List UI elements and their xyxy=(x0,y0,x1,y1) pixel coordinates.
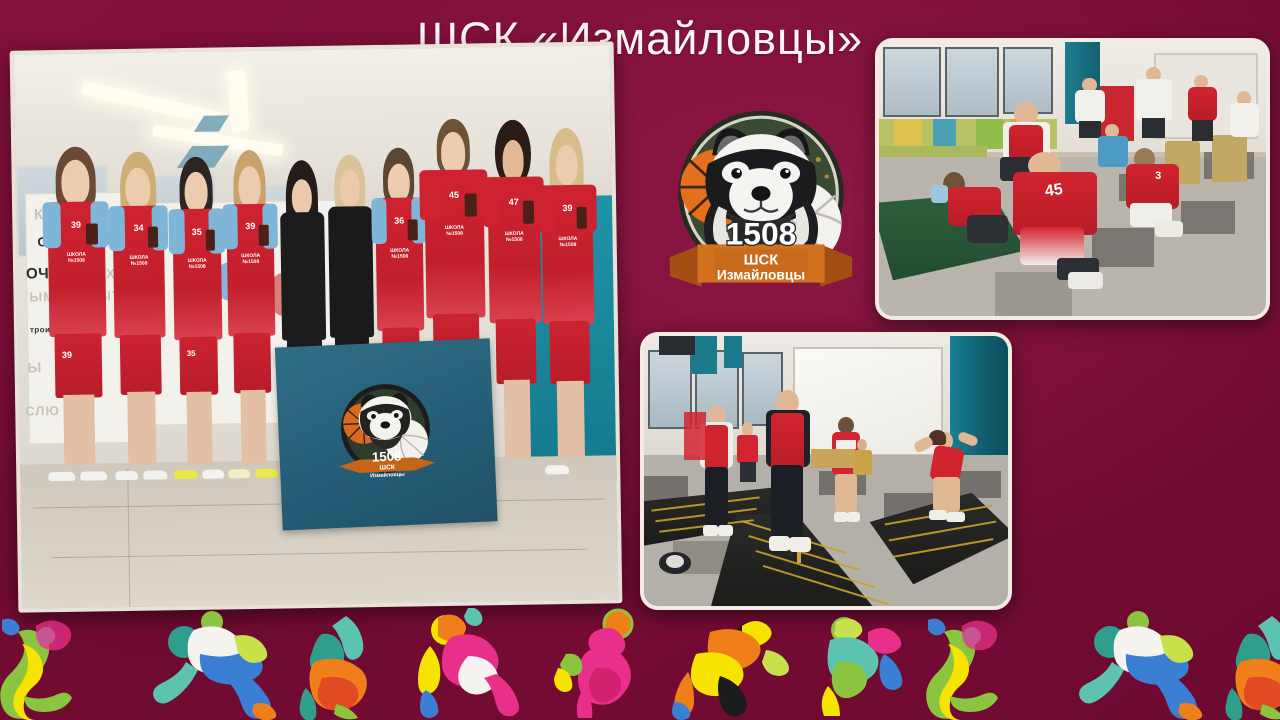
logo-line2: Измайловцы xyxy=(717,267,805,282)
shsk-izmaylovtsy-raccoon-emblem: 1508 ШСК Измайловцы xyxy=(648,96,874,308)
athlete-figure-basketball xyxy=(142,608,292,720)
svg-text:ШСК: ШСК xyxy=(380,463,397,471)
athlete-figure-bowler xyxy=(292,612,408,720)
athlete-figure-thrower xyxy=(798,610,926,720)
athlete-figure-runner xyxy=(666,610,798,720)
svg-text:1508: 1508 xyxy=(372,448,402,464)
athlete-figure-gymnast xyxy=(0,610,142,720)
logo-line1: ШСК xyxy=(744,253,780,269)
situps-testing-photo: 45 3 xyxy=(875,38,1270,320)
athlete-figure-volleyball xyxy=(546,608,666,720)
slide-canvas: ШСК «Измайловцы» К УСПЕХУ ОТКРЫТИЯМ! ОЧ … xyxy=(0,0,1280,720)
long-jump-testing-photo xyxy=(640,332,1012,610)
athlete-figure-gymnast xyxy=(926,610,1068,720)
team-group-photo: К УСПЕХУ ОТКРЫТИЯМ! ОЧ К УСПЕХУ ЫМ ОТКРЫ… xyxy=(10,41,623,612)
athlete-figure-basketball xyxy=(1068,608,1218,720)
athlete-silhouette-band xyxy=(0,602,1280,720)
athlete-figure-bowler xyxy=(1218,612,1280,720)
club-flag: 1508 ШСК Измайловцы xyxy=(275,338,497,530)
logo-number: 1508 xyxy=(726,215,797,251)
athlete-figure-handball xyxy=(408,608,546,720)
